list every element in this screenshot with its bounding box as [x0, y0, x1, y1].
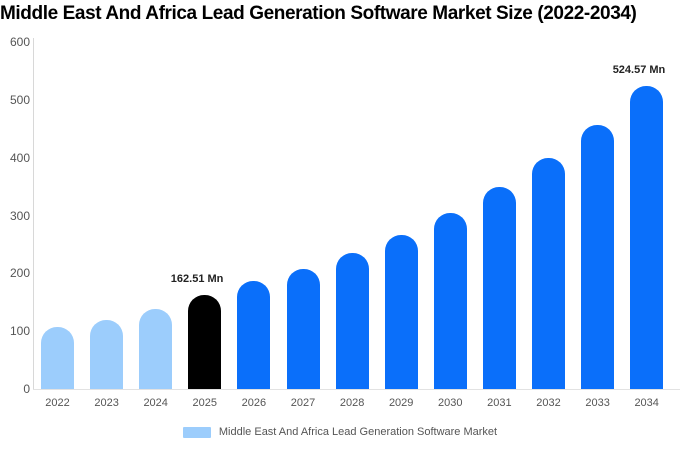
legend-swatch-icon — [183, 427, 211, 438]
bar-2028[interactable] — [336, 253, 369, 389]
y-axis-tick-label: 500 — [0, 94, 30, 106]
bar-slot — [581, 38, 614, 389]
bar-slot — [385, 38, 418, 389]
bar-slot — [287, 38, 320, 389]
y-axis-tick-label: 400 — [0, 152, 30, 164]
bar-2032[interactable] — [532, 158, 565, 389]
x-axis-tick-label: 2023 — [82, 396, 131, 410]
bar-slot — [434, 38, 467, 389]
bar-slot — [188, 38, 221, 389]
y-axis-tick-labels: 0100200300400500600 — [0, 0, 30, 450]
y-axis-tick-label: 300 — [0, 210, 30, 222]
bar-2027[interactable] — [287, 269, 320, 389]
chart-title: Middle East And Africa Lead Generation S… — [0, 2, 680, 26]
x-axis-tick-label: 2026 — [229, 396, 278, 410]
bar-2034[interactable] — [630, 86, 663, 389]
bar-slot — [41, 38, 74, 389]
bar-2024[interactable] — [139, 309, 172, 389]
legend-item-label: Middle East And Africa Lead Generation S… — [219, 426, 497, 439]
x-axis-tick-label: 2034 — [622, 396, 671, 410]
x-axis-tick-label: 2029 — [377, 396, 426, 410]
x-axis-tick-label: 2032 — [524, 396, 573, 410]
x-axis-tick-label: 2030 — [426, 396, 475, 410]
y-axis-tick-label: 600 — [0, 36, 30, 48]
bar-2031[interactable] — [483, 187, 516, 389]
bar-slot — [630, 38, 663, 389]
bar-2033[interactable] — [581, 125, 614, 389]
bar-2023[interactable] — [90, 320, 123, 389]
x-axis-tick-label: 2031 — [475, 396, 524, 410]
bar-slot — [237, 38, 270, 389]
chart-container: Middle East And Africa Lead Generation S… — [0, 0, 680, 450]
bar-value-label-2025: 162.51 Mn — [171, 273, 224, 285]
bar-slot — [532, 38, 565, 389]
bar-slot — [483, 38, 516, 389]
bar-value-label-2034: 524.57 Mn — [613, 64, 666, 76]
bar-2030[interactable] — [434, 213, 467, 389]
x-axis-tick-label: 2022 — [33, 396, 82, 410]
x-axis-line — [33, 389, 680, 390]
bar-2026[interactable] — [237, 281, 270, 389]
bar-2025[interactable] — [188, 295, 221, 389]
bar-slot — [336, 38, 369, 389]
bar-2022[interactable] — [41, 327, 74, 389]
x-axis-tick-label: 2033 — [573, 396, 622, 410]
y-axis-tick-label: 200 — [0, 267, 30, 279]
x-axis-tick-label: 2028 — [328, 396, 377, 410]
y-axis-tick-label: 100 — [0, 325, 30, 337]
bar-slot — [139, 38, 172, 389]
x-axis-tick-label: 2024 — [131, 396, 180, 410]
chart-legend[interactable]: Middle East And Africa Lead Generation S… — [0, 426, 680, 439]
y-axis-tick-label: 0 — [0, 383, 30, 395]
x-axis-tick-label: 2025 — [180, 396, 229, 410]
x-axis-tick-label: 2027 — [279, 396, 328, 410]
bar-2029[interactable] — [385, 235, 418, 389]
bar-slot — [90, 38, 123, 389]
